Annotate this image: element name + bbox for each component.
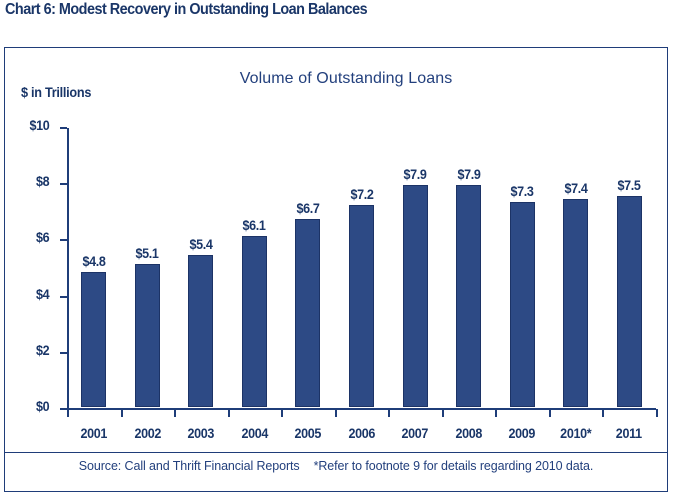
x-axis-label-2006: 2006 bbox=[337, 426, 387, 441]
bar-2002: $5.1 bbox=[135, 264, 160, 407]
source-divider bbox=[5, 452, 667, 453]
x-tick bbox=[549, 409, 551, 417]
bar-2010: $7.4 bbox=[563, 199, 588, 407]
chart-title: Volume of Outstanding Loans bbox=[5, 70, 669, 88]
bar-2001: $4.8 bbox=[81, 272, 106, 407]
x-axis-label-2007: 2007 bbox=[390, 426, 440, 441]
x-axis-label-2001: 2001 bbox=[69, 426, 119, 441]
bar-2008: $7.9 bbox=[456, 185, 481, 407]
x-tick bbox=[388, 409, 390, 417]
y-tick-0: $0 bbox=[60, 408, 67, 410]
y-tick-10: $10 bbox=[60, 127, 67, 129]
x-axis-label-2002: 2002 bbox=[122, 426, 172, 441]
bar-2004: $6.1 bbox=[242, 236, 267, 407]
x-axis-label-2008: 2008 bbox=[444, 426, 494, 441]
x-axis-label-2004: 2004 bbox=[229, 426, 279, 441]
bar-2006: $7.2 bbox=[349, 205, 374, 407]
bar-value-label: $6.1 bbox=[243, 218, 266, 233]
y-tick-label: $2 bbox=[36, 343, 49, 358]
x-tick bbox=[121, 409, 123, 417]
bar-value-label: $6.7 bbox=[296, 201, 319, 216]
source-footnote: *Refer to footnote 9 for details regardi… bbox=[314, 459, 594, 473]
page-title: Chart 6: Modest Recovery in Outstanding … bbox=[5, 1, 619, 19]
x-tick bbox=[442, 409, 444, 417]
source-label: Source: Call and Thrift Financial Report… bbox=[79, 459, 300, 473]
y-tick-6: $6 bbox=[60, 239, 67, 241]
bar-2005: $6.7 bbox=[295, 219, 320, 407]
y-tick-label: $6 bbox=[36, 230, 49, 245]
y-tick-4: $4 bbox=[60, 296, 67, 298]
bar-2007: $7.9 bbox=[403, 185, 428, 407]
x-tick bbox=[495, 409, 497, 417]
x-tick bbox=[656, 409, 658, 417]
bar-value-label: $7.3 bbox=[511, 184, 534, 199]
y-tick-label: $8 bbox=[36, 174, 49, 189]
bar-2003: $5.4 bbox=[188, 255, 213, 407]
x-tick bbox=[281, 409, 283, 417]
x-axis-label-2009: 2009 bbox=[497, 426, 547, 441]
y-tick-2: $2 bbox=[60, 352, 67, 354]
x-axis-label-2010: 2010* bbox=[551, 426, 601, 441]
bar-value-label: $5.4 bbox=[189, 237, 212, 252]
y-tick-8: $8 bbox=[60, 183, 67, 185]
bar-value-label: $5.1 bbox=[136, 246, 159, 261]
bar-2011: $7.5 bbox=[617, 196, 642, 407]
x-tick bbox=[602, 409, 604, 417]
plot-area: $0$2$4$6$8$10 $4.8$5.1$5.4$6.1$6.7$7.2$7… bbox=[67, 128, 656, 409]
bar-value-label: $7.2 bbox=[350, 187, 373, 202]
source-note: Source: Call and Thrift Financial Report… bbox=[5, 459, 667, 473]
y-tick-label: $4 bbox=[36, 287, 49, 302]
x-axis-label-2003: 2003 bbox=[176, 426, 226, 441]
x-tick bbox=[228, 409, 230, 417]
y-tick-label: $10 bbox=[29, 118, 49, 133]
bar-value-label: $7.9 bbox=[404, 167, 427, 182]
x-tick bbox=[335, 409, 337, 417]
x-axis-label-2011: 2011 bbox=[604, 426, 654, 441]
x-axis-line bbox=[67, 408, 656, 410]
x-axis-label-2005: 2005 bbox=[283, 426, 333, 441]
x-tick bbox=[67, 409, 69, 417]
bar-value-label: $7.5 bbox=[618, 178, 641, 193]
bar-value-label: $4.8 bbox=[82, 254, 105, 269]
chart-frame: $ in Trillions Volume of Outstanding Loa… bbox=[4, 47, 668, 492]
bar-value-label: $7.9 bbox=[457, 167, 480, 182]
y-tick-label: $0 bbox=[36, 399, 49, 414]
bar-value-label: $7.4 bbox=[564, 181, 587, 196]
bar-2009: $7.3 bbox=[510, 202, 535, 407]
y-axis-line bbox=[67, 128, 69, 410]
x-tick bbox=[174, 409, 176, 417]
